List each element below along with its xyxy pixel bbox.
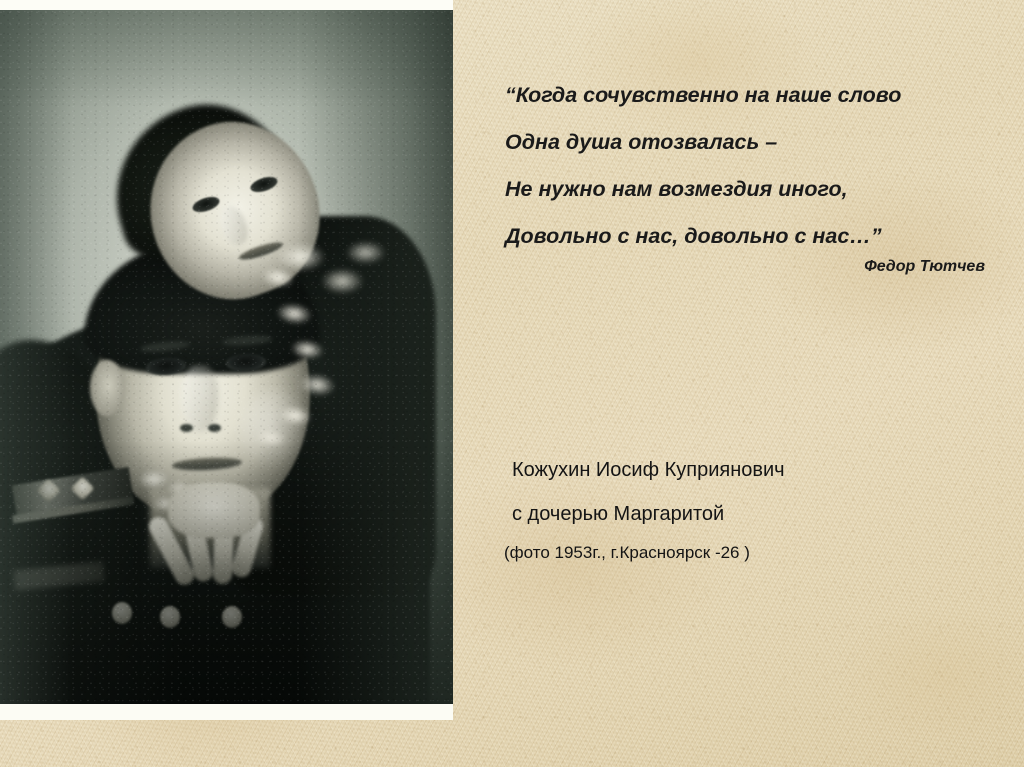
photo-vignette (0, 10, 453, 704)
quote-line-3: Не нужно нам возмездия иного, (505, 166, 985, 213)
quote-line-4: Довольно с нас, довольно с нас…” (505, 213, 985, 260)
caption-photo-note: (фото 1953г., г.Красноярск -26 ) (504, 536, 992, 570)
photo-caption: Кожухин Иосиф Куприянович с дочерью Марг… (512, 448, 992, 570)
slide: “Когда сочувственно на наше слово Одна д… (0, 0, 1024, 767)
photo-top-border (0, 0, 453, 10)
quote-line-1: “Когда сочувственно на наше слово (505, 72, 985, 119)
quote-line-2: Одна душа отозвалась – (505, 119, 985, 166)
poem-quote: “Когда сочувственно на наше слово Одна д… (505, 72, 985, 260)
quote-author: Федор Тютчев (505, 258, 985, 276)
caption-line-daughter: с дочерью Маргаритой (512, 492, 992, 536)
photograph-frame (0, 0, 453, 720)
caption-line-name: Кожухин Иосиф Куприянович (512, 448, 992, 492)
photo-bottom-border (0, 704, 453, 720)
vintage-portrait-photo (0, 10, 453, 704)
